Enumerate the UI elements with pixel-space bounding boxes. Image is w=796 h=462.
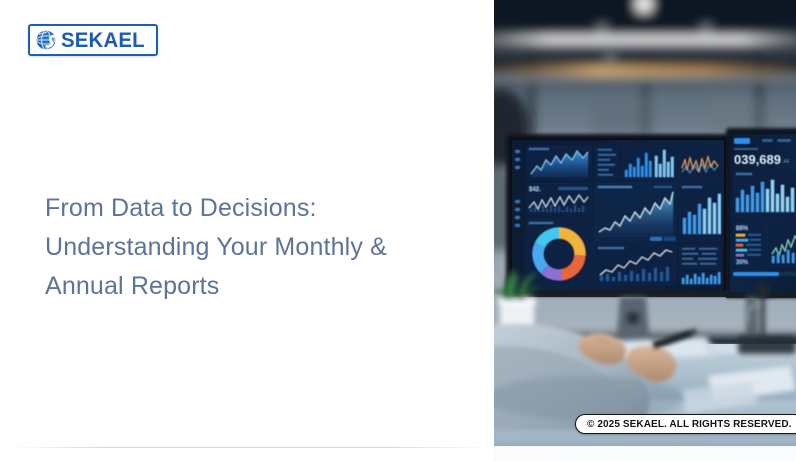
brand-name: SEKAEL <box>61 30 145 51</box>
svg-text:$42.: $42. <box>529 187 541 193</box>
svg-text:.44: .44 <box>782 159 789 165</box>
photo-metric: 039,689 <box>734 152 781 167</box>
page-title: From Data to Decisions: Understanding Yo… <box>45 189 465 307</box>
hero-photo: $42. <box>494 0 796 446</box>
svg-text:86%: 86% <box>736 226 749 232</box>
brand-logo[interactable]: SEKAEL <box>28 24 158 56</box>
copyright-badge: © 2025 SEKAEL. ALL RIGHTS RESERVED. <box>575 414 796 434</box>
content-panel: SEKAEL From Data to Decisions: Understan… <box>0 0 494 462</box>
globe-icon <box>35 29 57 51</box>
svg-text:30%: 30% <box>736 260 749 266</box>
footer-divider <box>8 447 493 448</box>
slide-canvas: SEKAEL From Data to Decisions: Understan… <box>0 0 796 462</box>
